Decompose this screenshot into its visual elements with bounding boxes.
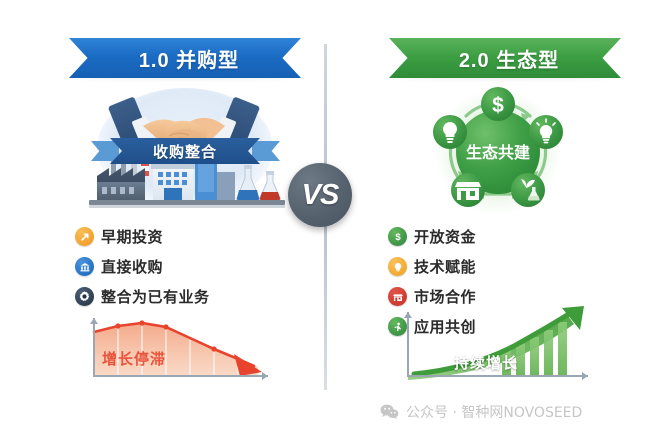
svg-text:$: $	[395, 232, 401, 243]
list-item: 整合为已有业务	[75, 286, 210, 307]
lightbulb-icon	[388, 257, 407, 276]
list-item: 市场合作	[388, 286, 476, 307]
left-bullet-list: 早期投资 直接收购	[75, 226, 210, 316]
bank-building-icon	[75, 257, 94, 276]
list-item-label: 技术赋能	[414, 256, 476, 277]
left-illustration: 收购整合	[75, 88, 295, 216]
gear-icon	[75, 287, 94, 306]
dollar-icon: $	[481, 87, 515, 121]
right-column: 2.0 生态型	[340, 0, 640, 433]
footer-label: 公众号 · 智种网NOVOSEED	[406, 402, 582, 422]
left-banner-label: 1.0 并购型	[131, 44, 239, 73]
right-chart-label: 持续增长	[454, 352, 518, 373]
dollar-coin-icon: $	[388, 227, 407, 246]
left-banner: 1.0 并购型	[69, 38, 301, 78]
left-chart-label: 增长停滞	[102, 348, 166, 369]
infographic-root: 1.0 并购型	[0, 0, 650, 433]
footer: 公众号 · 智种网NOVOSEED	[380, 402, 582, 422]
right-banner: 2.0 生态型	[389, 38, 621, 78]
list-item: 技术赋能	[388, 256, 476, 277]
flask-icon	[237, 165, 281, 200]
list-item-label: 整合为已有业务	[101, 286, 210, 307]
right-illustration: $	[388, 86, 608, 218]
list-item-label: 开放资金	[414, 226, 476, 247]
arrow-up-right-icon	[75, 227, 94, 246]
wechat-icon	[380, 404, 399, 420]
list-item: $ 开放资金	[388, 226, 476, 247]
idea-bulb-icon	[529, 115, 563, 149]
shop-icon	[451, 173, 485, 207]
list-item-label: 市场合作	[414, 286, 476, 307]
plant-flask-icon	[511, 173, 545, 207]
right-chart: 持续增长	[392, 306, 592, 384]
list-item: 早期投资	[75, 226, 210, 247]
list-item-label: 直接收购	[101, 256, 163, 277]
sub-ribbon-label: 收购整合	[153, 141, 217, 162]
right-banner-label: 2.0 生态型	[451, 44, 559, 73]
left-column: 1.0 并购型	[20, 0, 320, 433]
ecosystem-core-label: 生态共建	[466, 143, 530, 162]
list-item: 直接收购	[75, 256, 210, 277]
sub-ribbon: 收购整合	[110, 138, 260, 164]
left-chart: 增长停滞	[78, 310, 278, 388]
lightbulb-icon	[433, 115, 467, 149]
shop-icon	[388, 287, 407, 306]
svg-text:$: $	[492, 94, 504, 117]
list-item-label: 早期投资	[101, 226, 163, 247]
